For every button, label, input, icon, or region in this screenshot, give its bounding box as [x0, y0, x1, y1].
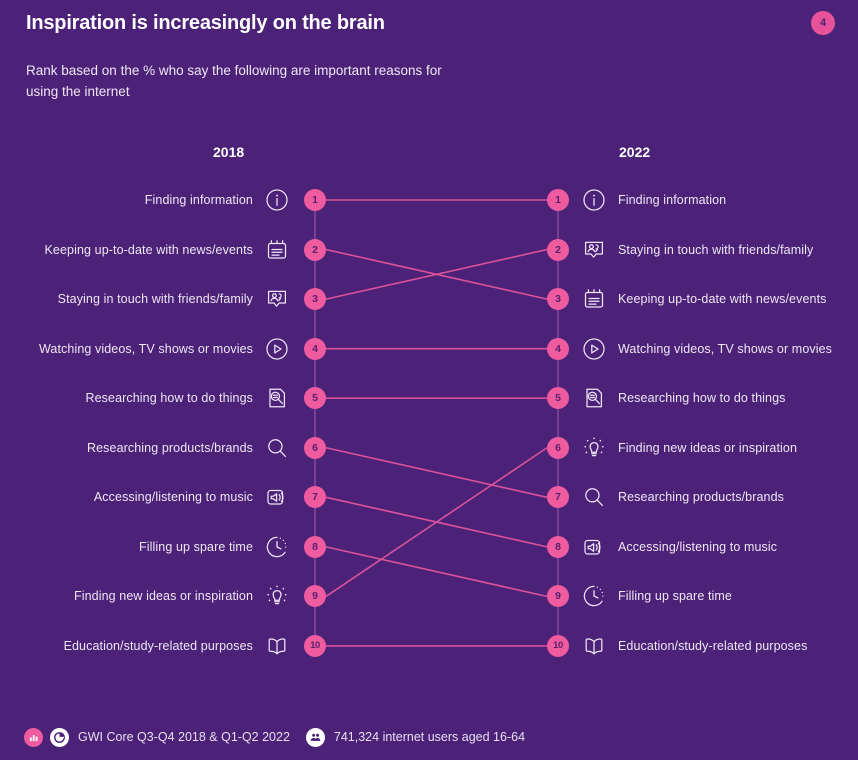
play-circle-icon [264, 336, 290, 362]
info-icon [581, 187, 607, 213]
doc-search-icon [581, 385, 607, 411]
speaker-icon [264, 484, 290, 510]
rank-row-right: Keeping up-to-date with news/events [581, 282, 827, 316]
rank-node-right: 5 [547, 387, 569, 409]
rank-node-left: 7 [304, 486, 326, 508]
rank-node-left: 3 [304, 288, 326, 310]
calendar-icon [264, 237, 290, 263]
rank-label-left: Accessing/listening to music [94, 490, 253, 504]
rank-node-left: 10 [304, 635, 326, 657]
rank-node-left: 1 [304, 189, 326, 211]
rank-label-left: Keeping up-to-date with news/events [45, 243, 254, 257]
info-icon [264, 187, 290, 213]
rank-node-right: 10 [547, 635, 569, 657]
slope-connector [326, 250, 547, 300]
lightbulb-icon [264, 583, 290, 609]
rank-node-left: 6 [304, 437, 326, 459]
rank-row-right: Accessing/listening to music [581, 530, 777, 564]
rank-row-left: Researching how to do things [86, 381, 291, 415]
clock-icon [581, 583, 607, 609]
page-number-badge: 4 [811, 11, 835, 35]
rank-label-right: Researching products/brands [618, 490, 784, 504]
rank-row-left: Education/study-related purposes [64, 629, 290, 663]
rank-row-left: Finding new ideas or inspiration [74, 579, 290, 613]
calendar-icon [581, 286, 607, 312]
rank-node-left: 4 [304, 338, 326, 360]
bar-chart-icon [24, 728, 43, 747]
magnifier-icon [581, 484, 607, 510]
book-icon [581, 633, 607, 659]
rank-label-left: Watching videos, TV shows or movies [39, 342, 253, 356]
rank-label-right: Education/study-related purposes [618, 639, 807, 653]
rank-label-right: Keeping up-to-date with news/events [618, 292, 827, 306]
magnifier-icon [264, 435, 290, 461]
rank-row-right: Finding information [581, 183, 726, 217]
speaker-icon [581, 534, 607, 560]
play-circle-icon [581, 336, 607, 362]
rank-label-right: Filling up spare time [618, 589, 732, 603]
rank-row-right: Researching how to do things [581, 381, 786, 415]
footer-sample-text: 741,324 internet users aged 16-64 [334, 730, 525, 744]
column-heading-2022: 2022 [619, 144, 650, 160]
rank-row-right: Staying in touch with friends/family [581, 233, 813, 267]
page-subtitle: Rank based on the % who say the followin… [26, 60, 466, 102]
rank-node-left: 8 [304, 536, 326, 558]
rank-label-left: Researching products/brands [87, 441, 253, 455]
rank-label-left: Finding information [145, 193, 253, 207]
rank-row-right: Filling up spare time [581, 579, 732, 613]
rank-node-right: 1 [547, 189, 569, 211]
chat-people-icon [264, 286, 290, 312]
slope-connector [326, 497, 547, 547]
rank-label-right: Finding new ideas or inspiration [618, 441, 797, 455]
column-heading-2018: 2018 [213, 144, 244, 160]
infographic-page: Inspiration is increasingly on the brain… [0, 0, 858, 760]
rank-row-left: Finding information [145, 183, 290, 217]
book-icon [264, 633, 290, 659]
rank-row-left: Accessing/listening to music [94, 480, 290, 514]
rank-label-left: Finding new ideas or inspiration [74, 589, 253, 603]
rank-row-left: Staying in touch with friends/family [58, 282, 290, 316]
donut-chart-icon [50, 728, 69, 747]
rank-label-left: Staying in touch with friends/family [58, 292, 253, 306]
rank-node-left: 5 [304, 387, 326, 409]
rank-label-left: Education/study-related purposes [64, 639, 253, 653]
rank-label-right: Researching how to do things [618, 391, 786, 405]
rank-label-right: Finding information [618, 193, 726, 207]
slope-connector [326, 448, 547, 597]
page-title: Inspiration is increasingly on the brain [26, 12, 385, 35]
rank-node-right: 8 [547, 536, 569, 558]
slope-connector [326, 448, 547, 498]
rank-node-right: 7 [547, 486, 569, 508]
footer-source-text: GWI Core Q3-Q4 2018 & Q1-Q2 2022 [78, 730, 290, 744]
rank-label-left: Filling up spare time [139, 540, 253, 554]
rank-node-right: 6 [547, 437, 569, 459]
lightbulb-icon [581, 435, 607, 461]
rank-row-left: Researching products/brands [87, 431, 290, 465]
rank-row-left: Filling up spare time [139, 530, 290, 564]
rank-node-right: 2 [547, 239, 569, 261]
rank-row-right: Watching videos, TV shows or movies [581, 332, 832, 366]
doc-search-icon [264, 385, 290, 411]
slope-connector [326, 547, 547, 597]
rank-label-left: Researching how to do things [86, 391, 254, 405]
rank-node-left: 2 [304, 239, 326, 261]
rank-label-right: Staying in touch with friends/family [618, 243, 813, 257]
rank-row-left: Keeping up-to-date with news/events [45, 233, 291, 267]
footer: GWI Core Q3-Q4 2018 & Q1-Q2 2022 741,324… [0, 714, 858, 760]
clock-icon [264, 534, 290, 560]
rank-node-right: 4 [547, 338, 569, 360]
rank-row-right: Researching products/brands [581, 480, 784, 514]
rank-label-right: Watching videos, TV shows or movies [618, 342, 832, 356]
rank-label-right: Accessing/listening to music [618, 540, 777, 554]
rank-row-right: Education/study-related purposes [581, 629, 807, 663]
rank-row-left: Watching videos, TV shows or movies [39, 332, 290, 366]
slope-connector [326, 250, 547, 300]
rank-node-right: 9 [547, 585, 569, 607]
rank-row-right: Finding new ideas or inspiration [581, 431, 797, 465]
rank-node-right: 3 [547, 288, 569, 310]
chat-people-icon [581, 237, 607, 263]
rank-node-left: 9 [304, 585, 326, 607]
users-icon [306, 728, 325, 747]
